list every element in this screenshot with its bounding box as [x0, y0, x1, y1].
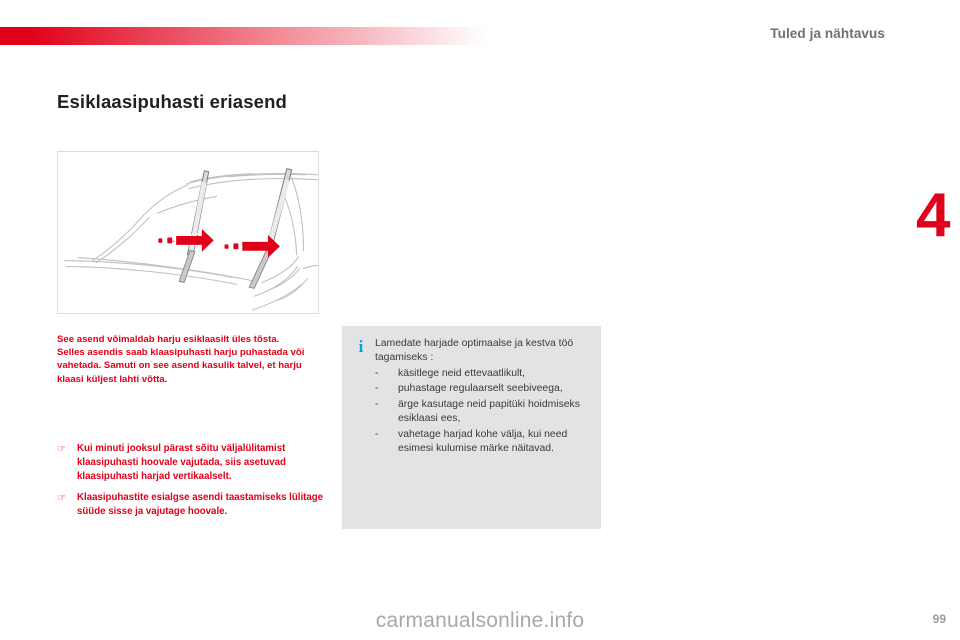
list-item-text: puhastage regulaarselt seebiveega, [398, 382, 593, 396]
list-item-text: käsitlege neid ettevaatlikult, [398, 367, 593, 381]
direction-arrow-right-body [225, 235, 280, 258]
instruction-list: ☞ Kui minuti jooksul pärast sõitu väljal… [57, 442, 329, 525]
list-item-text: Kui minuti jooksul pärast sõitu väljalül… [77, 442, 329, 485]
direction-arrow-left-body [158, 229, 213, 252]
chapter-tab: 4 [914, 60, 960, 390]
page-number: 99 [933, 612, 946, 626]
info-icon: i [354, 338, 368, 355]
list-item: - vahetage harjad kohe välja, kui need e… [375, 428, 593, 457]
lead-paragraph-2: Selles asendis saab klaasipuhasti harju … [57, 346, 325, 386]
chapter-number: 4 [916, 185, 948, 247]
watermark: carmanualsonline.info [0, 609, 960, 633]
pointer-hand-icon: ☞ [57, 491, 77, 506]
dash-marker: - [375, 367, 398, 381]
list-item: - puhastage regulaarselt seebiveega, [375, 382, 593, 396]
wiper-arm-left [179, 251, 195, 283]
lead-text: See asend võimaldab harju esiklaasilt ül… [57, 333, 325, 386]
page-title: Esiklaasipuhasti eriasend [57, 91, 287, 113]
list-item-text: ärge kasutage neid papitüki hoidmiseks e… [398, 398, 593, 427]
dash-marker: - [375, 382, 398, 396]
info-box: i Lamedate harjade optimaalse ja kestva … [342, 326, 601, 529]
info-box-heading: Lamedate harjade optimaalse ja kestva tö… [375, 337, 590, 366]
list-item-text: vahetage harjad kohe välja, kui need esi… [398, 428, 593, 457]
list-item: ☞ Kui minuti jooksul pärast sõitu väljal… [57, 442, 329, 485]
lead-paragraph-1: See asend võimaldab harju esiklaasilt ül… [57, 333, 325, 346]
info-box-list: - käsitlege neid ettevaatlikult, - puhas… [375, 367, 593, 457]
manual-page: Tuled ja nähtavus 4 Esiklaasipuhasti eri… [0, 0, 960, 640]
section-title: Tuled ja nähtavus [770, 26, 885, 41]
list-item: ☞ Klaasipuhastite esialgse asendi taasta… [57, 491, 329, 519]
windshield-illustration-svg [58, 152, 318, 313]
list-item: - käsitlege neid ettevaatlikult, [375, 367, 593, 381]
windshield-wipers-illustration [57, 151, 319, 314]
header-gradient-rule [0, 27, 487, 45]
pointer-hand-icon: ☞ [57, 442, 77, 457]
dash-marker: - [375, 398, 398, 412]
dash-marker: - [375, 428, 398, 442]
list-item: - ärge kasutage neid papitüki hoidmiseks… [375, 398, 593, 427]
list-item-text: Klaasipuhastite esialgse asendi taastami… [77, 491, 329, 519]
